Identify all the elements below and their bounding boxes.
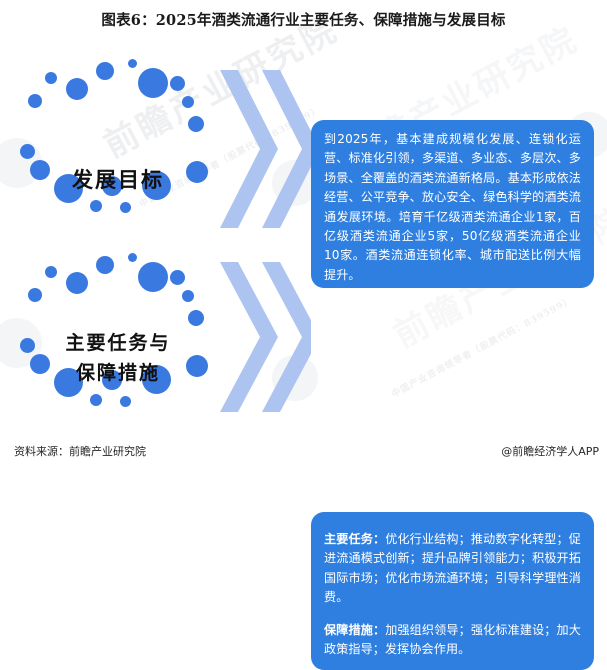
dot-ring-cluster-goal: 发展目标 bbox=[18, 56, 218, 242]
section-label-goal: 发展目标 bbox=[18, 164, 218, 194]
ring-dot bbox=[45, 72, 57, 84]
panel-heading-measures: 保障措施： bbox=[324, 623, 385, 637]
ring-dot bbox=[90, 200, 102, 212]
section-label-task-line1: 主要任务与 bbox=[18, 328, 218, 358]
ring-dot bbox=[66, 272, 88, 294]
ring-dot bbox=[182, 96, 194, 108]
page-title: 图表6：2025年酒类流通行业主要任务、保障措施与发展目标 bbox=[0, 9, 607, 30]
section-label-task-line2: 保障措施 bbox=[18, 358, 218, 388]
ring-dot bbox=[120, 396, 131, 407]
attribution-note: @前瞻经济学人APP bbox=[501, 443, 599, 459]
ring-dot bbox=[170, 270, 185, 285]
section-label-task: 主要任务与 保障措施 bbox=[18, 328, 218, 388]
double-chevron-right-task bbox=[216, 250, 311, 425]
ring-dot bbox=[188, 310, 204, 326]
ring-dot bbox=[20, 144, 35, 159]
section-row-goal: 发展目标 到2025年，基本建成规模化发展、连锁化运营、标准化引领，多渠道、多业… bbox=[0, 56, 607, 242]
ring-dot bbox=[188, 116, 204, 132]
panel-heading-tasks: 主要任务： bbox=[324, 532, 385, 546]
chevron-icon bbox=[220, 70, 278, 228]
content-panel-task: 主要任务：优化行业结构；推动数字化转型；促进流通模式创新；提升品牌引领能力；积极… bbox=[311, 512, 594, 670]
panel-paragraph-measures: 保障措施：加强组织领导；强化标准建设；加大政策指导；发挥协会作用。 bbox=[324, 621, 581, 660]
source-note: 资料来源：前瞻产业研究院 bbox=[14, 443, 146, 459]
dot-ring-cluster-task: 主要任务与 保障措施 bbox=[18, 250, 218, 425]
double-chevron-right-goal bbox=[216, 56, 311, 242]
ring-dot bbox=[182, 290, 194, 302]
section-row-task: 主要任务与 保障措施 主要任务：优化行业结构；推动数字化转型；促进流通模式创新；… bbox=[0, 250, 607, 425]
ring-dot bbox=[28, 288, 42, 302]
ring-dot bbox=[45, 266, 57, 278]
ring-dot bbox=[138, 68, 168, 98]
ring-dot bbox=[66, 78, 88, 100]
ring-dot bbox=[96, 62, 114, 80]
ring-dot bbox=[90, 394, 102, 406]
ring-dot bbox=[96, 256, 114, 274]
infographic-canvas: 前瞻产业研究院 中国产业咨询领导者（股票代码：839599） 前瞻产业研究院 前… bbox=[0, 0, 607, 479]
ring-dot bbox=[120, 202, 131, 213]
ring-dot bbox=[138, 262, 168, 292]
chevron-icon bbox=[220, 262, 278, 412]
ring-dot bbox=[28, 94, 42, 108]
ring-dot bbox=[170, 76, 185, 91]
ring-dot bbox=[128, 59, 137, 68]
panel-paragraph-tasks: 主要任务：优化行业结构；推动数字化转型；促进流通模式创新；提升品牌引领能力；积极… bbox=[324, 530, 581, 608]
ring-dot bbox=[128, 253, 137, 262]
